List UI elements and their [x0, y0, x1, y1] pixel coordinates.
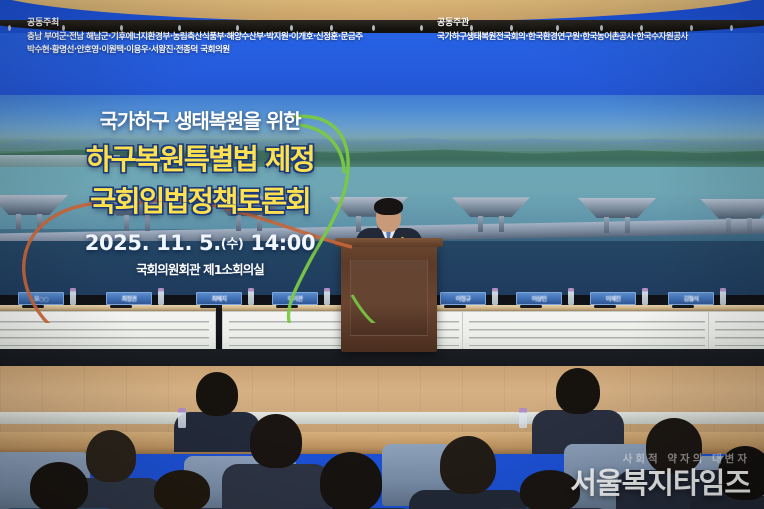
banner-venue: 국회의원회관 제1소회의실	[0, 259, 400, 278]
event-banner: 국가하구 생태복원을 위한 하구복원특별법 제정 국회입법정책토론회 2025.…	[0, 33, 400, 278]
nameplate-text: 이이관	[288, 294, 303, 303]
gate-tower	[452, 197, 530, 231]
audience-head	[196, 372, 238, 416]
nameplate: 이상민	[516, 292, 562, 305]
banner-day-of-week: (수)	[221, 237, 244, 252]
desk-microphone	[110, 305, 132, 308]
desk-microphone	[444, 305, 466, 308]
co-organizer-credit: 공동주관 국가하구생태복원전국회의·한국환경연구원·한국농어촌공사·한국수자원공…	[437, 15, 688, 44]
watermark: 사회적 약자의 대변자 서울복지타임즈	[570, 451, 750, 499]
nameplate-text: 김철석	[684, 294, 699, 303]
water-bottle	[70, 288, 76, 305]
co-host-label: 공동주최	[27, 15, 363, 28]
nameplate: 이정규	[440, 292, 486, 305]
water-bottle	[642, 288, 648, 305]
gate-tower	[700, 199, 764, 233]
nameplate-text: 이상민	[532, 294, 547, 303]
water-bottle	[492, 288, 498, 305]
water-bottle	[248, 288, 254, 305]
banner-date: 2025. 11. 5.	[85, 231, 221, 255]
audience-head	[440, 436, 496, 494]
banner-subtitle: 국가하구 생태복원을 위한	[0, 105, 400, 134]
co-organizer-label: 공동주관	[437, 15, 688, 28]
audience-body	[174, 412, 260, 452]
nameplate: 이이관	[272, 292, 318, 305]
audience-head	[556, 368, 600, 414]
desk-microphone	[520, 305, 542, 308]
banner-datetime: 2025. 11. 5.(수) 14:00	[0, 231, 400, 255]
water-bottle	[178, 408, 186, 428]
audience-desk-far	[0, 412, 764, 424]
banner-title-line-1: 하구복원특별법 제정	[0, 143, 400, 176]
nameplate-text: 이정규	[456, 294, 471, 303]
nameplate: 오○○	[18, 292, 64, 305]
desk-microphone	[200, 305, 222, 308]
nameplate: 이재진	[590, 292, 636, 305]
nameplate-text: 최정권	[122, 294, 137, 303]
water-bottle	[324, 288, 330, 305]
audience-head	[320, 452, 382, 509]
banner-time: 14:00	[250, 231, 315, 255]
water-bottle	[158, 288, 164, 305]
nameplate-text: 최해지	[212, 294, 227, 303]
nameplate-text: 이재진	[606, 294, 621, 303]
nameplate: 최정권	[106, 292, 152, 305]
audience-head	[86, 430, 136, 482]
water-bottle	[568, 288, 574, 305]
co-organizer-line-1: 국가하구생태복원전국회의·한국환경연구원·한국농어촌공사·한국수자원공사	[437, 31, 688, 44]
watermark-brand: 서울복지타임즈	[570, 467, 750, 499]
audience-body	[222, 464, 330, 509]
watermark-tagline: 사회적 약자의 대변자	[570, 451, 750, 466]
desk-microphone	[672, 305, 694, 308]
nameplate: 최해지	[196, 292, 242, 305]
conference-photo: 공동주최 충남 부여군·전남 해남군·기후에너지환경부·농림축산식품부·해양수산…	[0, 0, 764, 509]
water-bottle	[720, 288, 726, 305]
banner-title-line-2: 국회입법정책토론회	[0, 185, 400, 218]
nameplate: 김철석	[668, 292, 714, 305]
audience-head	[30, 462, 88, 509]
nameplate-text: 오○○	[34, 294, 48, 303]
audience-head	[250, 414, 302, 468]
audience-head	[154, 470, 210, 509]
water-bottle	[519, 408, 527, 428]
desk-microphone	[22, 305, 44, 308]
desk-microphone	[594, 305, 616, 308]
gate-tower	[578, 198, 656, 232]
desk-microphone	[276, 305, 298, 308]
